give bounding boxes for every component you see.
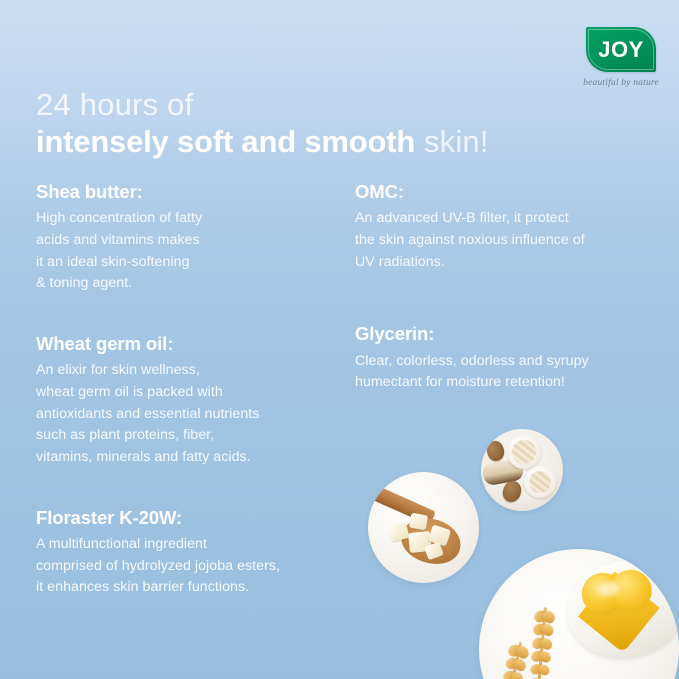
description-line: it an ideal skin-softening — [36, 252, 341, 274]
photo-shea-butter-spoon — [368, 472, 479, 583]
leaf-icon: JOY — [586, 27, 656, 72]
ingredient-title: Shea butter: — [36, 181, 341, 203]
description-line: An advanced UV-B filter, it protect — [355, 208, 660, 230]
shea-bowl-shape — [524, 466, 556, 498]
description-line: acids and vitamins makes — [36, 230, 341, 252]
ingredient-infographic: JOY beautiful by nature 24 hours of inte… — [0, 0, 679, 679]
ingredient-title: Wheat germ oil: — [36, 333, 341, 355]
ingredient-title: Glycerin: — [355, 323, 660, 345]
description-line: humectant for moisture retention! — [355, 372, 660, 394]
photo-shea-nuts-bowls — [481, 429, 563, 511]
ingredient-description: High concentration of fatty acids and vi… — [36, 208, 341, 295]
shea-bowl-shape — [507, 435, 541, 469]
ingredient-description: An elixir for skin wellness, wheat germ … — [36, 360, 341, 469]
ingredient-omc: OMC: An advanced UV-B filter, it protect… — [355, 181, 660, 273]
headline-bold-text: intensely soft and smooth — [36, 124, 415, 159]
headline-line-1: 24 hours of — [36, 88, 636, 121]
ingredient-description: Clear, colorless, odorless and syrupy hu… — [355, 351, 660, 394]
shea-nut-shape — [484, 439, 506, 463]
description-line: comprised of hydrolyzed jojoba esters, — [36, 556, 341, 578]
brand-name: JOY — [598, 39, 644, 61]
ingredients-column-right: OMC: An advanced UV-B filter, it protect… — [355, 181, 660, 420]
description-line: & toning agent. — [36, 273, 341, 295]
ingredient-title: OMC: — [355, 181, 660, 203]
headline-line-2: intensely soft and smooth skin! — [36, 125, 636, 158]
ingredient-shea-butter: Shea butter: High concentration of fatty… — [36, 181, 341, 295]
heart-oil-shape — [580, 567, 660, 640]
ingredient-wheat-germ-oil: Wheat germ oil: An elixir for skin welln… — [36, 333, 341, 469]
shea-cube-shape — [409, 513, 428, 531]
description-line: antioxidants and essential nutrients — [36, 404, 341, 426]
ingredients-column-left: Shea butter: High concentration of fatty… — [36, 181, 341, 625]
description-line: High concentration of fatty — [36, 208, 341, 230]
description-line: A multifunctional ingredient — [36, 534, 341, 556]
description-line: the skin against noxious influence of — [355, 230, 660, 252]
ingredient-description: An advanced UV-B filter, it protect the … — [355, 208, 660, 273]
brand-tagline: beautiful by nature — [575, 78, 667, 88]
page-title: 24 hours of intensely soft and smooth sk… — [36, 88, 636, 159]
headline-light-text: 24 hours of — [36, 87, 193, 122]
description-line: it enhances skin barrier functions. — [36, 577, 341, 599]
description-line: vitamins, minerals and fatty acids. — [36, 447, 341, 469]
ingredient-glycerin: Glycerin: Clear, colorless, odorless and… — [355, 323, 660, 394]
shea-cream-shape — [529, 471, 551, 493]
wheat-stalk-shape — [527, 607, 552, 679]
headline-tail-text: skin! — [415, 124, 489, 159]
description-line: UV radiations. — [355, 252, 660, 274]
wheat-stalk-shape — [492, 641, 527, 679]
ingredient-title: Floraster K-20W: — [36, 507, 341, 529]
ingredient-description: A multifunctional ingredient comprised o… — [36, 534, 341, 599]
photo-wheat-oil-heart — [479, 549, 679, 679]
description-line: Clear, colorless, odorless and syrupy — [355, 351, 660, 373]
shea-cream-shape — [512, 440, 536, 464]
description-line: An elixir for skin wellness, — [36, 360, 341, 382]
description-line: such as plant proteins, fiber, — [36, 425, 341, 447]
ingredient-floraster-k20w: Floraster K-20W: A multifunctional ingre… — [36, 507, 341, 599]
shea-nut-shape — [501, 479, 523, 503]
description-line: wheat germ oil is packed with — [36, 382, 341, 404]
